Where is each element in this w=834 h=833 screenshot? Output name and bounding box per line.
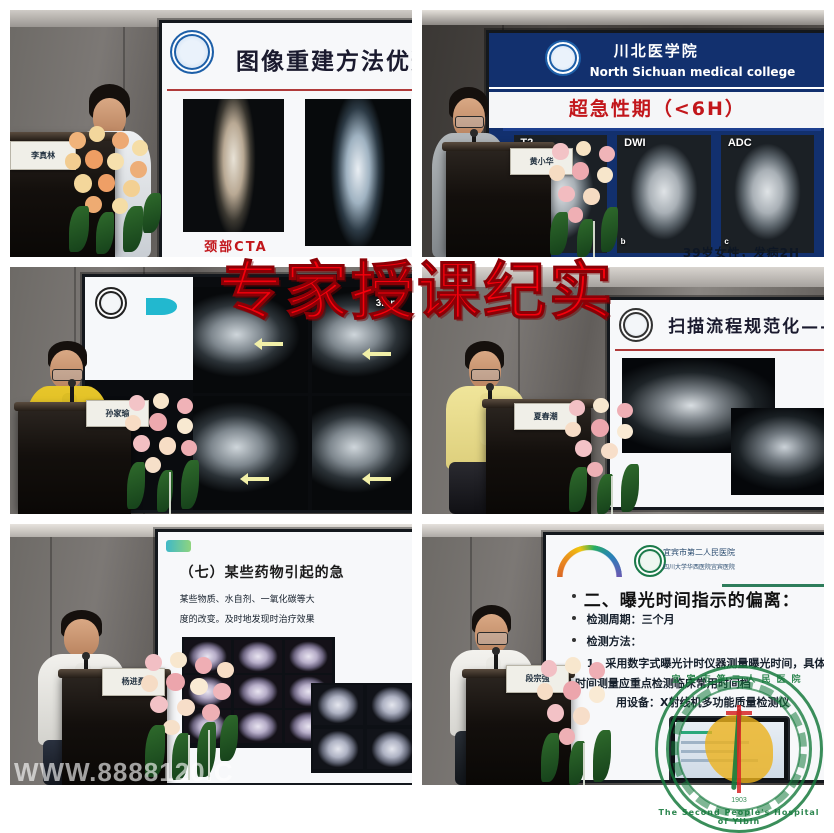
slide-title: 图像重建方法优选 — [236, 42, 412, 76]
placard-name: 夏春潮 — [534, 411, 558, 422]
laptop-device — [669, 716, 790, 780]
institution-logo-icon — [619, 308, 653, 342]
placard-name: 李真林 — [31, 150, 55, 161]
flower-bouquet — [535, 655, 636, 786]
slide-title: 扫描流程规范化—— — [668, 312, 824, 337]
mri-image-adc — [721, 135, 814, 253]
slide-body-line-2: 度的改变。及时地发现时治疗效果 — [180, 612, 315, 625]
slide-line-2: 检测方法： — [587, 633, 642, 649]
institution-name-cn: 宜宾市第二人民医院 — [663, 547, 735, 558]
panel-top-left[interactable]: 图像重建方法优选 颈部CTA 李真林 — [10, 10, 412, 257]
flower-bouquet — [123, 391, 224, 515]
panel-middle-left[interactable]: 3mm 孙家瑜 — [10, 267, 412, 514]
cta-image-right — [305, 99, 411, 246]
slide-line-1: 检测周期：三个月 — [587, 611, 675, 627]
seal-year: 1903 — [655, 797, 823, 804]
panel-middle-right[interactable]: 扫描流程规范化—— 夏春潮 — [422, 267, 824, 514]
image-label-slice-thickness: 3mm — [376, 298, 399, 309]
flower-bouquet — [563, 395, 664, 514]
slide-line-5: 用设备：X射线机多功能质量检测仪 — [616, 694, 789, 710]
seal-text-en: The Second People's Hospital of Yibin — [655, 808, 823, 826]
hospital-logo-icon — [634, 545, 666, 577]
annotation-arrow-2 — [369, 352, 391, 356]
ct-brain-grid-secondary — [311, 683, 412, 773]
annotation-arrow-4 — [369, 477, 391, 481]
institution-name-cn: 川北医学院 — [614, 40, 699, 61]
slide-caption: 颈部CTA — [204, 236, 267, 255]
slide-title: （七）某些药物引起的急 — [180, 562, 345, 582]
flower-bouquet — [62, 124, 175, 257]
rainbow-arc-logo-icon — [557, 545, 622, 577]
org-logo-icon — [166, 540, 191, 553]
slide-title: 二、曝光时间指示的偏离： — [584, 586, 800, 611]
panel-top-right[interactable]: 川北医学院 North Sichuan medical college 超急性期… — [422, 10, 824, 257]
pointer-marker-icon — [146, 298, 176, 314]
photo-collage: 图像重建方法优选 颈部CTA 李真林 — [0, 0, 834, 795]
institution-logo-icon — [170, 30, 214, 74]
annotation-arrow-1 — [261, 342, 283, 346]
mr-image-tl — [193, 287, 308, 394]
slide-title: 超急性期（<6H） — [569, 94, 746, 121]
mr-breast-image-2 — [731, 408, 824, 495]
institution-logo-icon — [545, 40, 581, 76]
mr-image-br — [312, 396, 412, 510]
slide-body-line-1: 某些物质、水自剂、一氧化碳等大 — [180, 592, 315, 605]
panel-bottom-left[interactable]: （七）某些药物引起的急 某些物质、水自剂、一氧化碳等大 度的改变。及时地发现时治… — [10, 524, 412, 785]
panel-bottom-right[interactable]: 宜宾市第二人民医院 四川大学华西医院宜宾医院 二、曝光时间指示的偏离： 检测周期… — [422, 524, 824, 785]
institution-logo-icon — [95, 287, 127, 319]
image-label-adc: ADC — [728, 137, 752, 149]
flower-bouquet — [547, 138, 643, 257]
slide-caption: 39岁女性，发病2H — [683, 244, 800, 257]
institution-name-sub: 四川大学华西医院宜宾医院 — [663, 562, 735, 571]
presentation-screen: 图像重建方法优选 颈部CTA — [159, 20, 412, 257]
cta-image-left — [183, 99, 284, 232]
annotation-arrow-3 — [247, 477, 269, 481]
flower-bouquet — [139, 649, 252, 780]
institution-name-en: North Sichuan medical college — [590, 65, 796, 79]
